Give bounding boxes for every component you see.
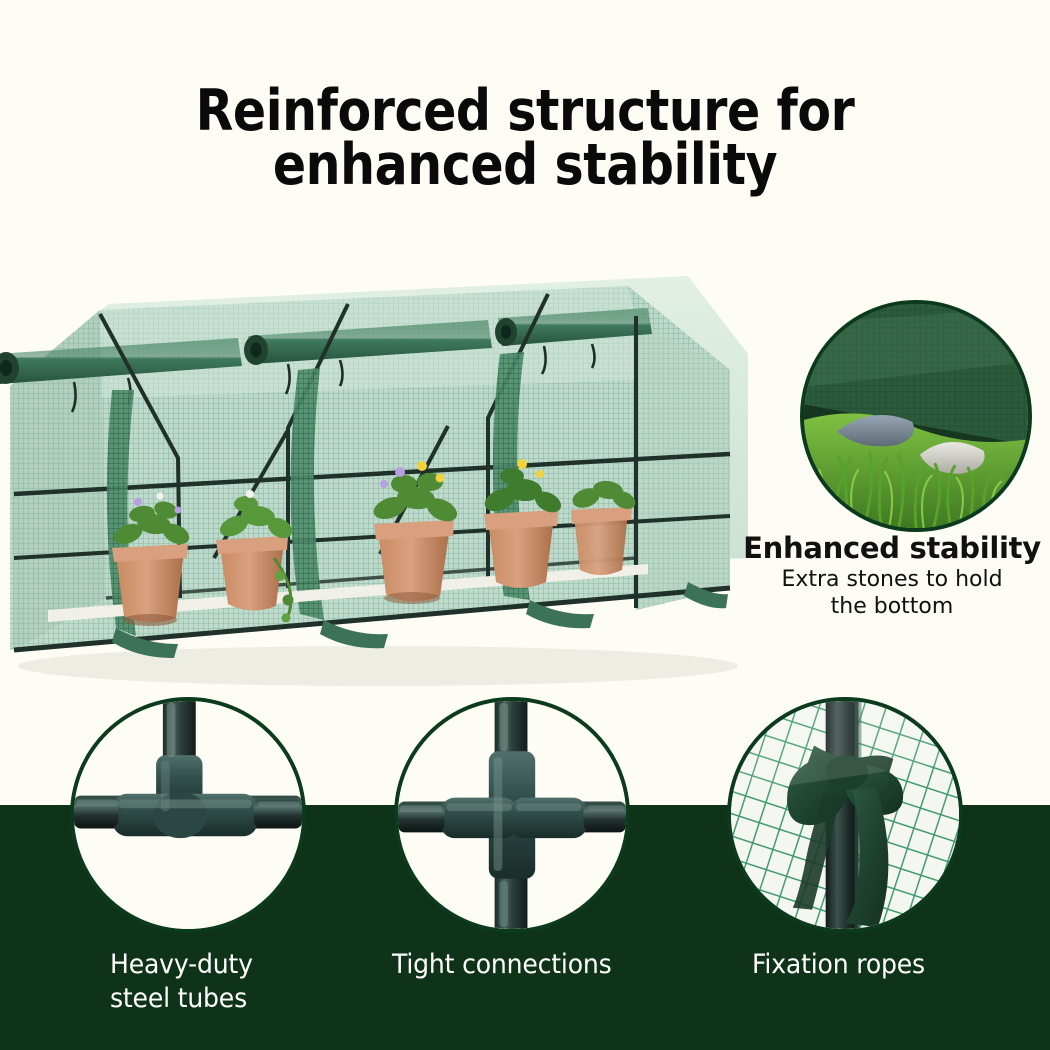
product-infographic: Reinforced structure for enhanced stabil… (0, 0, 1050, 1050)
page-title: Reinforced structure for enhanced stabil… (74, 84, 977, 192)
callout-subtitle-enhanced-stability: Extra stones to hold the bottom (742, 567, 1042, 621)
callout-circle-tight-connections (394, 697, 630, 933)
callout-title-fixation-ropes: Fixation ropes (752, 948, 994, 982)
callout-title-enhanced-stability: Enhanced stability (742, 532, 1042, 564)
callout-title-steel-tubes: Heavy-duty steel tubes (110, 948, 352, 1016)
callout-circle-fixation-ropes (727, 697, 963, 933)
callout-circle-enhanced-stability (800, 300, 1032, 532)
callout-title-tight-connections: Tight connections (392, 948, 634, 982)
callout-circle-steel-tubes (70, 697, 306, 933)
hero-product-image (0, 258, 778, 698)
callout-caption-enhanced-stability: Enhanced stability Extra stones to hold … (742, 532, 1042, 621)
